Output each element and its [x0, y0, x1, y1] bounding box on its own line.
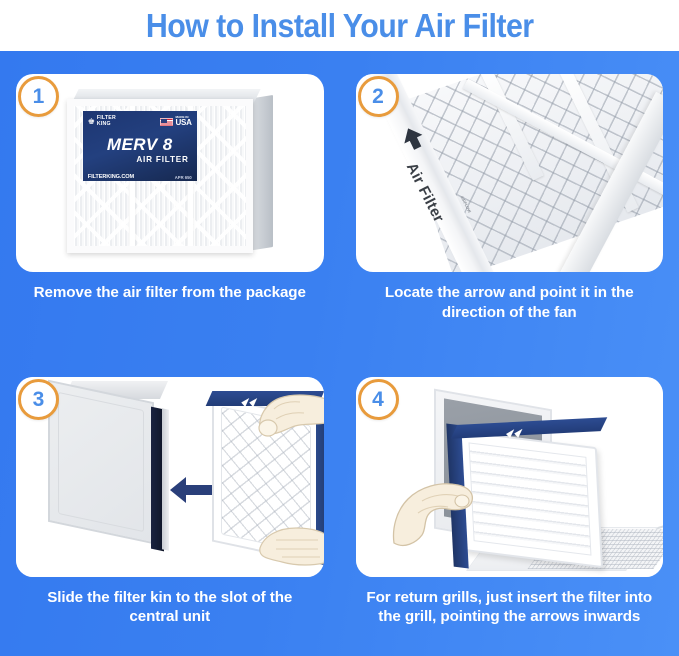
step-4-number: 4 — [372, 389, 384, 410]
steps-grid: 1 ♚ — [0, 51, 679, 656]
step-1-number: 1 — [33, 86, 45, 107]
made-in-usa-badge: MADE IN USA — [160, 116, 191, 127]
step-4: 4 — [340, 354, 679, 656]
step-3-caption: Slide the filter kin to the slot of the … — [25, 588, 314, 627]
brand-name: FILTER KING — [97, 116, 116, 127]
step-2: 2 Air Filter AIRF — [340, 51, 679, 354]
merv8-filter-image: ♚ FILTER KING MADE IN — [61, 89, 279, 257]
grill-louvers — [468, 442, 591, 555]
label-top-row: ♚ FILTER KING MADE IN — [88, 115, 192, 128]
step-3-number: 3 — [33, 389, 45, 410]
slide-filter-illustration — [16, 377, 324, 577]
return-grill-illustration — [356, 377, 664, 577]
return-grill-cover — [456, 429, 602, 567]
filter-front-face: ♚ FILTER KING MADE IN — [67, 99, 253, 253]
step-3: 3 — [0, 354, 340, 656]
step-1: 1 ♚ — [0, 51, 340, 354]
step-4-badge: 4 — [358, 379, 399, 420]
page-title: How to Install Your Air Filter — [146, 7, 534, 45]
central-unit-front — [48, 379, 154, 544]
step-4-card: 4 — [356, 377, 664, 577]
filter-product-label: ♚ FILTER KING MADE IN — [83, 111, 197, 181]
step-3-card: 3 — [16, 377, 324, 577]
step-2-caption: Locate the arrow and point it in the dir… — [365, 283, 654, 322]
brand-line-2: KING — [97, 121, 111, 127]
step-1-card: 1 ♚ — [16, 74, 324, 272]
step-2-card: 2 Air Filter AIRF — [356, 74, 664, 272]
hand-icon — [392, 471, 476, 554]
usa-flag-icon — [160, 118, 173, 126]
country-label: USA — [175, 119, 191, 127]
brand-website: FILTERKING.COM — [88, 174, 134, 180]
label-bottom-row: FILTERKING.COM APR 650 — [88, 174, 192, 180]
insertion-arrow-icon — [168, 475, 214, 510]
step-4-caption: For return grills, just insert the filte… — [365, 588, 654, 627]
step-1-badge: 1 — [18, 76, 59, 117]
hand-lower-icon — [256, 522, 324, 573]
merv-rating: MERV 8 — [88, 136, 192, 153]
crown-icon: ♚ — [88, 118, 95, 126]
made-in-usa-text: MADE IN USA — [175, 116, 191, 127]
header: How to Install Your Air Filter — [0, 0, 679, 51]
filter-corner-image: Air Filter AIRFLOW — [356, 74, 664, 272]
step-2-number: 2 — [372, 86, 384, 107]
step-2-badge: 2 — [358, 76, 399, 117]
product-type-label: AIR FILTER — [88, 155, 192, 164]
step-1-caption: Remove the air filter from the package — [25, 283, 314, 303]
hand-upper-icon — [252, 389, 324, 452]
apr-rating: APR 650 — [175, 175, 192, 180]
filter-king-logo: ♚ FILTER KING — [88, 116, 116, 127]
infographic-root: How to Install Your Air Filter 1 — [0, 0, 679, 656]
step-3-badge: 3 — [18, 379, 59, 420]
